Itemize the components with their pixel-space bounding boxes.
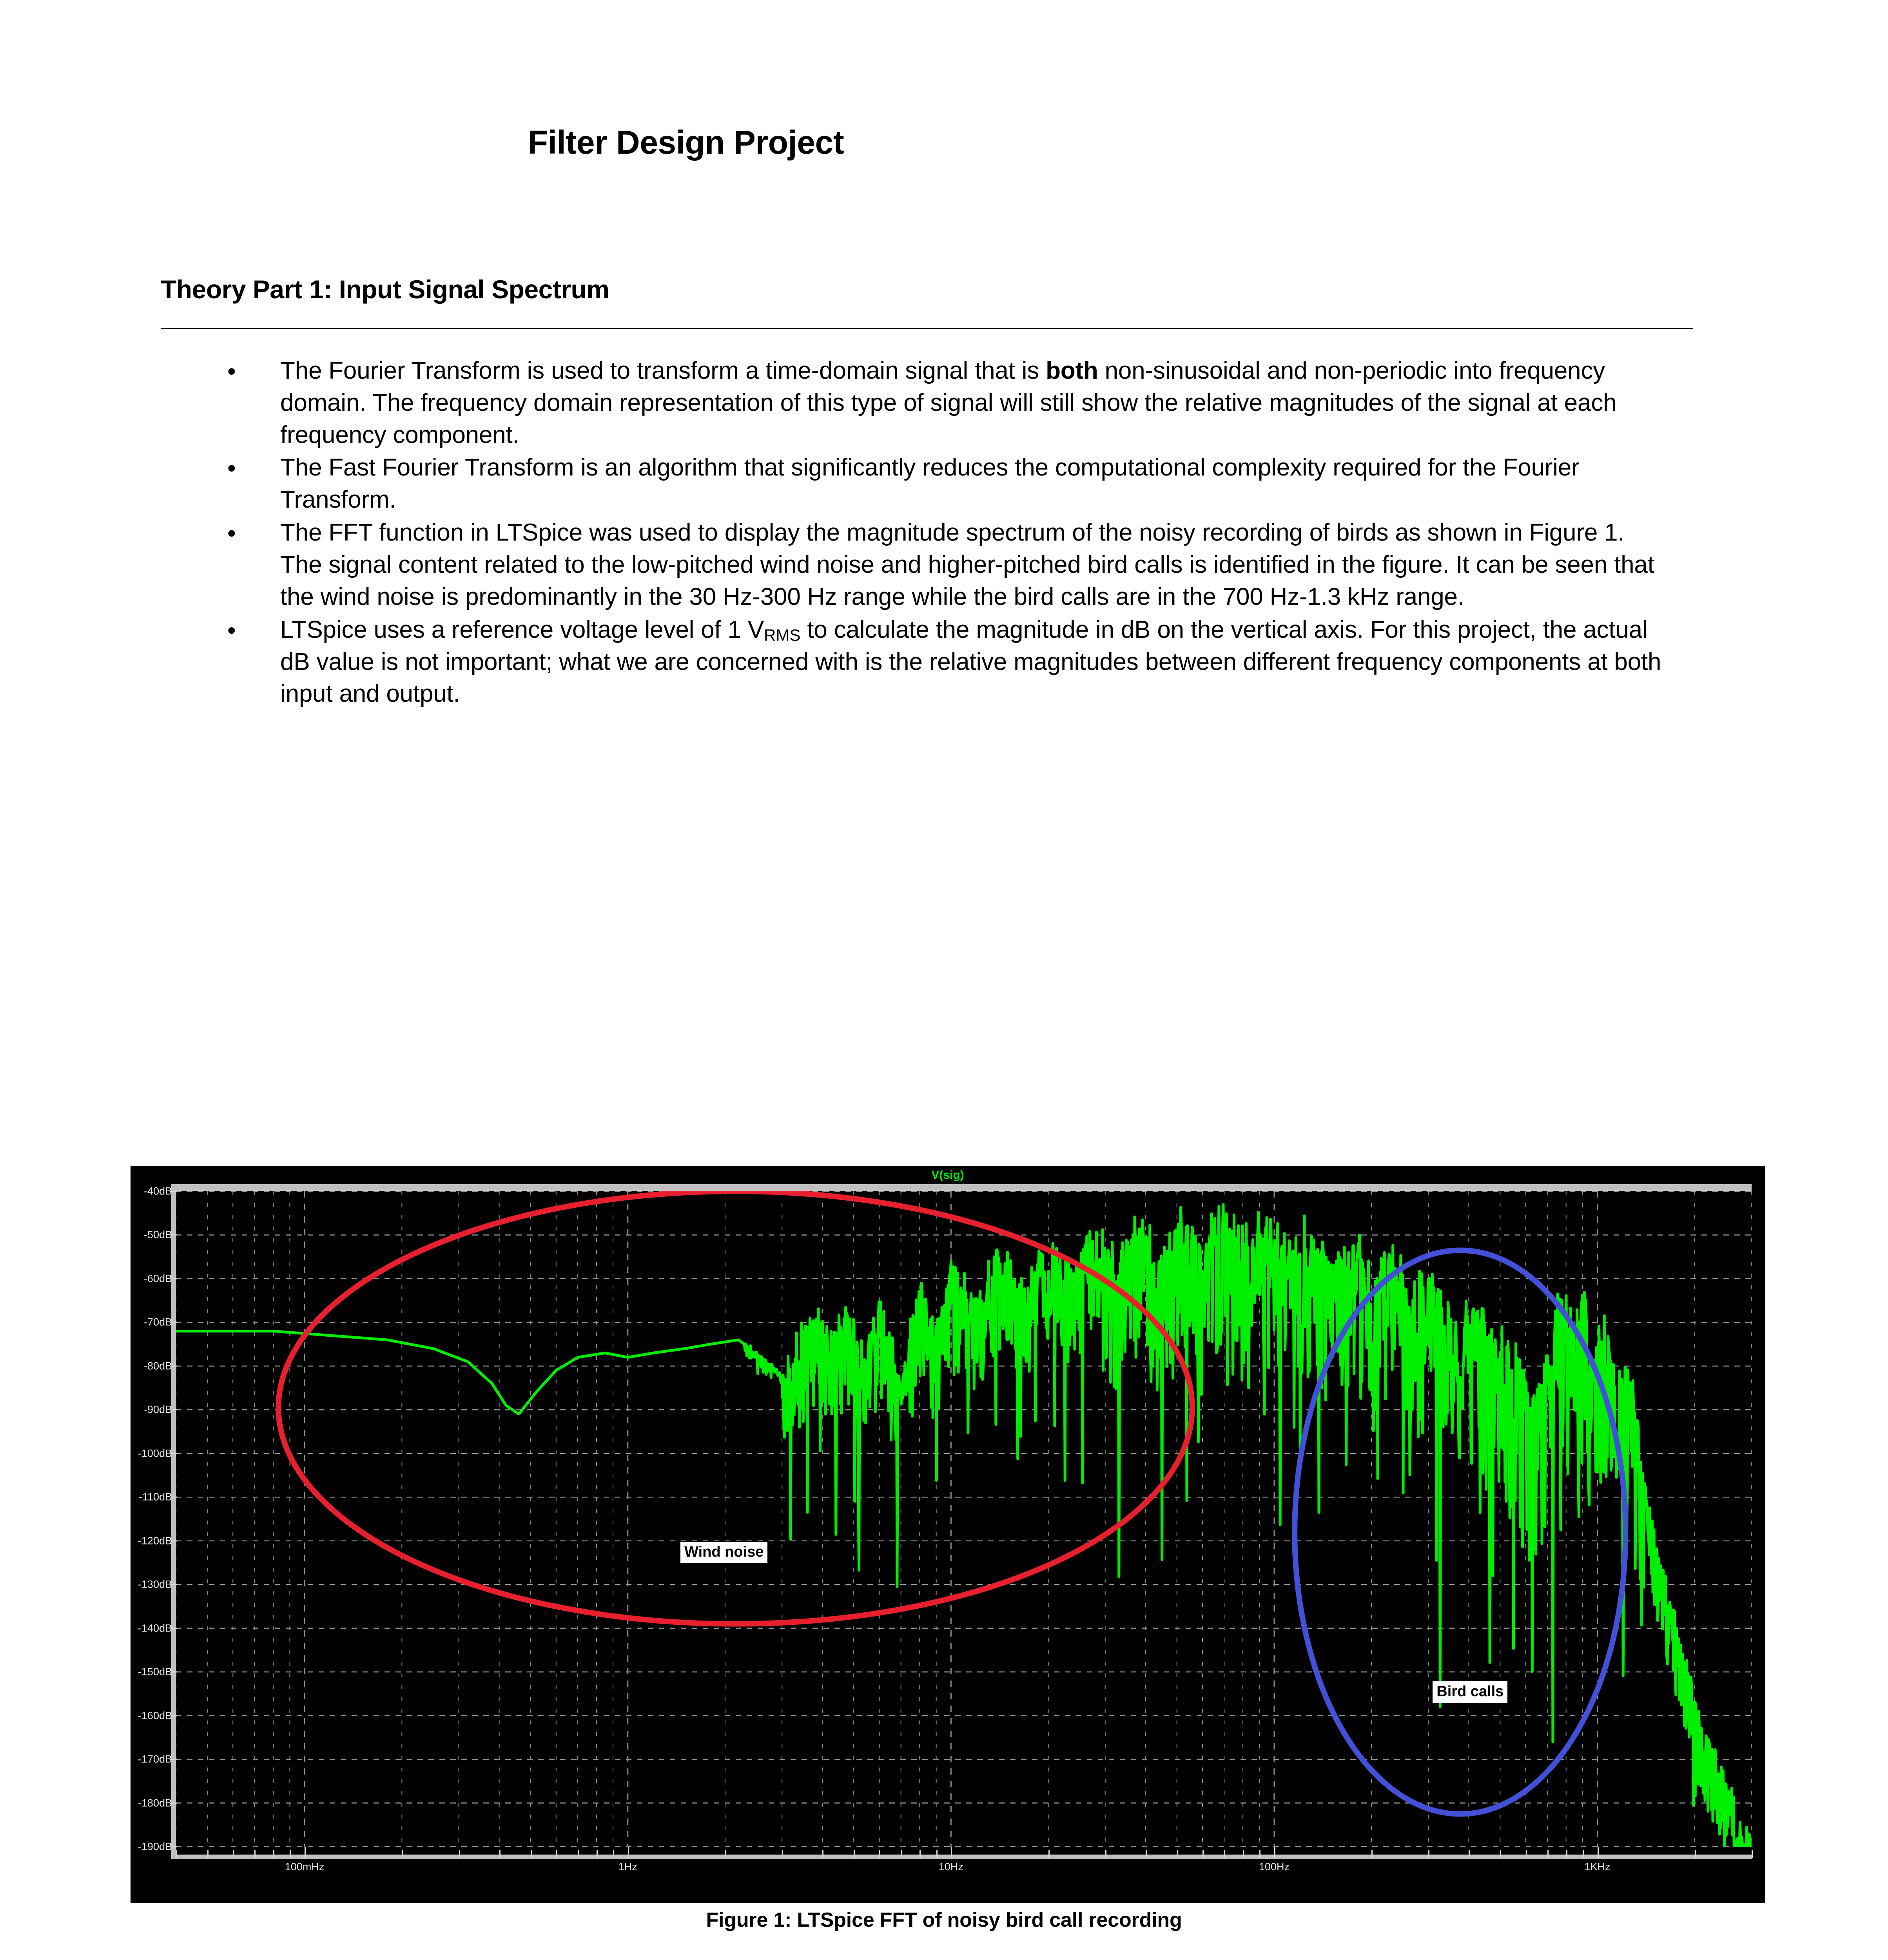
trace-layer bbox=[176, 1205, 1752, 1847]
list-item: • The Fourier Transform is used to trans… bbox=[219, 355, 1670, 451]
x-axis-tick bbox=[1583, 1850, 1584, 1858]
x-axis-tick bbox=[233, 1850, 234, 1858]
plot-drawing-area[interactable] bbox=[176, 1191, 1752, 1847]
x-axis-tick bbox=[1105, 1850, 1106, 1858]
bullet-marker: • bbox=[227, 356, 236, 388]
x-axis-tick bbox=[176, 1850, 177, 1858]
document-page: Filter Design Project Theory Part 1: Inp… bbox=[0, 0, 1888, 1960]
y-axis-tick bbox=[171, 1628, 177, 1629]
y-axis-tick-label: -120dB bbox=[138, 1535, 172, 1547]
x-axis-tick bbox=[254, 1850, 256, 1858]
bullet-text-emphasis: both bbox=[1046, 357, 1098, 384]
x-axis-tick bbox=[499, 1850, 501, 1858]
bullet-marker: • bbox=[227, 452, 236, 485]
bullet-list: • The Fourier Transform is used to trans… bbox=[219, 355, 1670, 711]
x-axis-tick bbox=[1566, 1850, 1567, 1858]
list-item: • The Fast Fourier Transform is an algor… bbox=[219, 452, 1670, 516]
x-axis-tick bbox=[273, 1850, 274, 1858]
spectrum-trace bbox=[176, 1205, 1752, 1847]
x-axis-tick bbox=[725, 1850, 726, 1858]
y-axis-tick bbox=[171, 1365, 177, 1367]
y-axis-tick-label: -170dB bbox=[138, 1753, 172, 1766]
x-axis-tick bbox=[1752, 1850, 1753, 1858]
x-axis-tick bbox=[854, 1850, 855, 1858]
y-axis-tick bbox=[171, 1278, 177, 1279]
y-axis-tick-label: -70dB bbox=[144, 1316, 172, 1328]
x-axis-tick bbox=[901, 1850, 902, 1858]
x-axis-tick bbox=[1177, 1850, 1178, 1858]
x-axis-tick bbox=[290, 1850, 291, 1858]
y-axis-tick bbox=[171, 1846, 177, 1847]
x-axis-tick bbox=[1469, 1850, 1470, 1858]
x-axis-tick bbox=[1547, 1850, 1549, 1858]
x-axis-tick bbox=[1146, 1850, 1147, 1858]
x-axis-tick-label: 1KHz bbox=[1585, 1861, 1611, 1873]
x-axis-tick bbox=[556, 1850, 557, 1858]
y-axis-tick-label: -60dB bbox=[144, 1272, 172, 1285]
y-axis-tick-label: -150dB bbox=[138, 1666, 172, 1678]
x-axis-tick bbox=[305, 1847, 306, 1858]
y-axis-tick bbox=[171, 1715, 177, 1716]
x-axis-labels: 100mHz1Hz10Hz100Hz1KHz bbox=[131, 1861, 1765, 1888]
x-axis-tick-label: 10Hz bbox=[939, 1861, 963, 1873]
x-axis-tick-label: 100mHz bbox=[285, 1861, 325, 1873]
y-axis-tick-label: -100dB bbox=[138, 1447, 172, 1459]
annotation-label-bird-calls: Bird calls bbox=[1433, 1681, 1507, 1703]
annotation-label-wind-noise: Wind noise bbox=[680, 1542, 767, 1563]
x-axis-tick bbox=[782, 1850, 783, 1858]
x-axis-tick bbox=[951, 1847, 952, 1858]
x-axis-tick bbox=[920, 1850, 921, 1858]
annotation-ellipse-bird-calls bbox=[1295, 1250, 1625, 1814]
trace-legend-label: V(sig) bbox=[131, 1169, 1765, 1182]
y-axis-tick bbox=[171, 1671, 177, 1673]
x-axis-tick bbox=[1274, 1847, 1275, 1858]
x-axis-tick bbox=[1695, 1850, 1696, 1858]
plot-top-scrollbar[interactable] bbox=[176, 1184, 1752, 1191]
y-axis-tick bbox=[171, 1191, 177, 1192]
x-axis-tick bbox=[402, 1850, 403, 1858]
x-axis-tick bbox=[1428, 1850, 1429, 1858]
y-axis-tick bbox=[171, 1540, 177, 1541]
y-axis-tick-label: -40dB bbox=[144, 1185, 172, 1198]
list-item: • The FFT function in LTSpice was used t… bbox=[219, 517, 1670, 613]
y-axis-tick bbox=[171, 1409, 177, 1410]
y-axis-tick bbox=[171, 1322, 177, 1323]
x-axis-tick bbox=[613, 1850, 614, 1858]
x-axis-tick bbox=[1048, 1850, 1050, 1858]
x-axis-tick bbox=[879, 1850, 880, 1858]
bullet-text-pre: The Fourier Transform is used to transfo… bbox=[280, 357, 1046, 384]
x-axis-tick bbox=[597, 1850, 598, 1858]
bullet-marker: • bbox=[227, 517, 236, 550]
x-axis-tick-label: 1Hz bbox=[618, 1861, 637, 1873]
y-axis-tick-label: -90dB bbox=[144, 1404, 172, 1416]
y-axis-tick-label: -80dB bbox=[144, 1360, 172, 1372]
x-axis-tick bbox=[1500, 1850, 1501, 1858]
y-axis-tick bbox=[171, 1234, 177, 1236]
subscript-rms: RMS bbox=[764, 626, 800, 644]
section-heading: Theory Part 1: Input Signal Spectrum bbox=[161, 274, 609, 304]
x-axis-tick bbox=[1598, 1847, 1599, 1858]
y-axis-tick-label: -160dB bbox=[138, 1710, 172, 1722]
x-axis-tick bbox=[1526, 1850, 1527, 1858]
x-axis-tick bbox=[1202, 1850, 1204, 1858]
y-axis-tick-label: -50dB bbox=[144, 1229, 172, 1241]
x-axis-tick bbox=[628, 1847, 629, 1858]
x-axis-tick bbox=[936, 1850, 938, 1858]
x-axis-strip[interactable] bbox=[171, 1855, 1752, 1859]
x-axis-tick bbox=[578, 1850, 579, 1858]
x-axis-tick bbox=[1224, 1850, 1225, 1858]
bullet-text-pre: The FFT function in LTSpice was used to … bbox=[280, 519, 1654, 610]
x-axis-tick-label: 100Hz bbox=[1259, 1861, 1289, 1873]
y-axis-tick bbox=[171, 1759, 177, 1760]
y-axis-tick-label: -140dB bbox=[138, 1622, 172, 1634]
heading-divider bbox=[161, 328, 1693, 329]
page-title: Filter Design Project bbox=[0, 123, 1372, 162]
y-axis-tick-label: -190dB bbox=[138, 1841, 172, 1853]
bullet-text-pre: The Fast Fourier Transform is an algorit… bbox=[280, 454, 1580, 513]
plot-canvas: V(sig) -40dB-50dB-60dB-70dB-80dB-90dB-10… bbox=[131, 1166, 1765, 1903]
y-axis-labels: -40dB-50dB-60dB-70dB-80dB-90dB-100dB-110… bbox=[131, 1184, 173, 1855]
figure-ltspice-fft: V(sig) -40dB-50dB-60dB-70dB-80dB-90dB-10… bbox=[131, 1166, 1765, 1903]
figure-caption: Figure 1: LTSpice FFT of noisy bird call… bbox=[0, 1908, 1888, 1932]
y-axis-tick bbox=[171, 1584, 177, 1585]
x-axis-tick bbox=[207, 1850, 209, 1858]
x-axis-tick bbox=[1243, 1850, 1244, 1858]
x-axis-tick bbox=[1259, 1850, 1260, 1858]
bullet-marker: • bbox=[227, 615, 236, 647]
y-axis-tick bbox=[171, 1497, 177, 1498]
list-item: • LTSpice uses a reference voltage level… bbox=[219, 614, 1670, 710]
y-axis-tick-label: -110dB bbox=[139, 1491, 172, 1503]
y-axis-tick-label: -180dB bbox=[138, 1797, 172, 1809]
x-axis-tick bbox=[822, 1850, 823, 1858]
spectrum-svg bbox=[176, 1191, 1752, 1847]
y-axis-tick bbox=[171, 1802, 177, 1804]
x-axis-tick bbox=[1371, 1850, 1373, 1858]
x-axis-tick bbox=[459, 1850, 460, 1858]
y-axis-tick bbox=[171, 1453, 177, 1454]
y-axis-tick-label: -130dB bbox=[138, 1579, 172, 1591]
x-axis-tick bbox=[531, 1850, 532, 1858]
bullet-text-pre: LTSpice uses a reference voltage level o… bbox=[280, 616, 764, 643]
